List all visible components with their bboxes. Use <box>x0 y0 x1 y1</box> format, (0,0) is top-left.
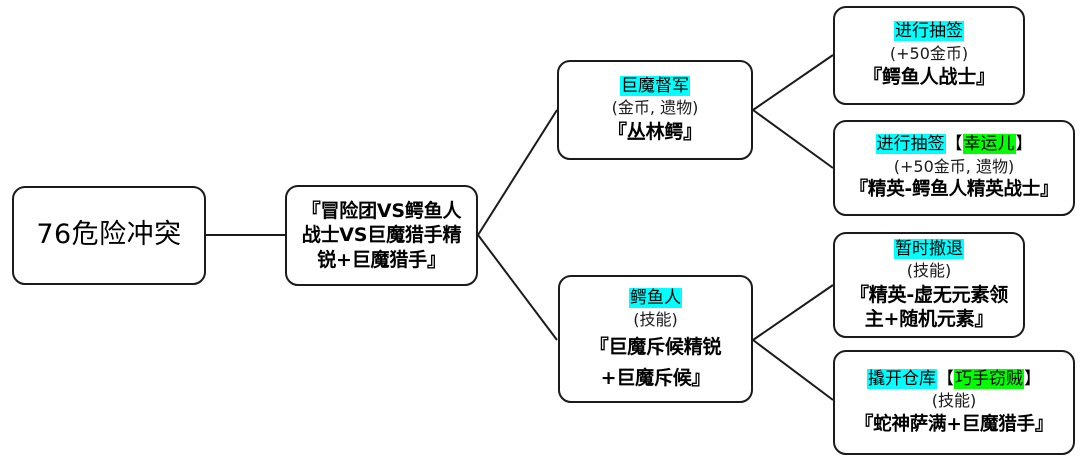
node-leaf-3-sub: (技能) <box>907 261 952 281</box>
node-leaf-3-main-line-2: 主+随机元素』 <box>865 307 994 331</box>
node-leaf-4[interactable]: 撬开仓库【巧手窃贼】 (技能) 『蛇神萨满+巨魔猎手』 <box>833 350 1075 455</box>
node-leaf-2-tag: 幸运儿 <box>963 134 1016 154</box>
node-leaf-2-sub: (+50金币, 遗物) <box>894 157 1014 177</box>
node-encounter-line-1: 『冒险团VS鳄鱼人 <box>302 199 462 223</box>
node-leaf-1-title-text: 进行抽签 <box>894 21 964 41</box>
edge-encounter-to-branch-bottom <box>478 235 557 340</box>
node-branch-top-sub: (金币, 遗物) <box>612 98 699 118</box>
node-leaf-2-bracket-close: 】 <box>1016 134 1033 154</box>
node-branch-bottom[interactable]: 鳄鱼人 (技能) 『巨魔斥候精锐 +巨魔斥候』 <box>558 275 753 403</box>
node-leaf-2[interactable]: 进行抽签【幸运儿】 (+50金币, 遗物) 『精英-鳄鱼人精英战士』 <box>833 120 1075 216</box>
node-branch-bottom-title-text: 鳄鱼人 <box>629 288 682 308</box>
node-branch-top-title-text: 巨魔督军 <box>620 76 690 96</box>
node-branch-bottom-main-line-2: +巨魔斥候』 <box>601 366 711 390</box>
node-leaf-3-main-line-1: 『精英-虚无元素领 <box>850 283 1008 307</box>
node-branch-bottom-title: 鳄鱼人 <box>629 288 682 310</box>
edge-encounter-to-branch-top <box>478 110 557 235</box>
node-encounter-line-3: 锐+巨魔猎手』 <box>317 248 446 272</box>
node-leaf-4-main: 『蛇神萨满+巨魔猎手』 <box>855 413 1053 437</box>
node-leaf-3-title-text: 暂时撤退 <box>894 239 964 259</box>
node-leaf-3[interactable]: 暂时撤退 (技能) 『精英-虚无元素领 主+随机元素』 <box>833 232 1025 338</box>
node-encounter[interactable]: 『冒险团VS鳄鱼人 战士VS巨魔猎手精 锐+巨魔猎手』 <box>285 185 478 286</box>
node-branch-top[interactable]: 巨魔督军 (金币, 遗物) 『丛林鳄』 <box>557 60 753 160</box>
node-leaf-2-title: 进行抽签【幸运儿】 <box>876 134 1033 156</box>
node-leaf-4-bracket-open: 【 <box>937 369 954 389</box>
node-leaf-1-title: 进行抽签 <box>894 21 964 43</box>
edge-branch-bottom-to-leaf-3 <box>753 285 833 340</box>
diagram-canvas: 76危险冲突 『冒险团VS鳄鱼人 战士VS巨魔猎手精 锐+巨魔猎手』 巨魔督军 … <box>0 0 1080 468</box>
edge-branch-top-to-leaf-2 <box>753 110 833 168</box>
node-root[interactable]: 76危险冲突 <box>12 186 206 285</box>
edge-branch-top-to-leaf-1 <box>753 55 833 110</box>
node-branch-top-main: 『丛林鳄』 <box>608 120 702 144</box>
node-leaf-2-title-text: 进行抽签 <box>876 134 946 154</box>
node-leaf-4-tag: 巧手窃贼 <box>954 369 1024 389</box>
node-leaf-4-bracket-close: 】 <box>1024 369 1041 389</box>
node-root-label: 76危险冲突 <box>36 218 181 253</box>
node-leaf-1-sub: (+50金币) <box>890 44 968 64</box>
node-leaf-2-main: 『精英-鳄鱼人精英战士』 <box>850 178 1059 202</box>
edge-branch-bottom-to-leaf-4 <box>753 340 833 400</box>
node-branch-top-title: 巨魔督军 <box>620 76 690 98</box>
node-leaf-1-main: 『鳄鱼人战士』 <box>863 65 995 89</box>
node-leaf-3-title: 暂时撤退 <box>894 239 964 261</box>
node-branch-bottom-main-line-1: 『巨魔斥候精锐 <box>590 335 722 359</box>
node-leaf-4-title: 撬开仓库【巧手窃贼】 <box>867 369 1041 391</box>
node-leaf-1[interactable]: 进行抽签 (+50金币) 『鳄鱼人战士』 <box>833 6 1025 105</box>
node-branch-bottom-sub: (技能) <box>633 310 678 330</box>
node-leaf-2-bracket-open: 【 <box>946 134 963 154</box>
node-leaf-4-sub: (技能) <box>932 391 977 411</box>
node-leaf-4-title-text: 撬开仓库 <box>867 369 937 389</box>
node-encounter-line-2: 战士VS巨魔猎手精 <box>302 223 462 247</box>
